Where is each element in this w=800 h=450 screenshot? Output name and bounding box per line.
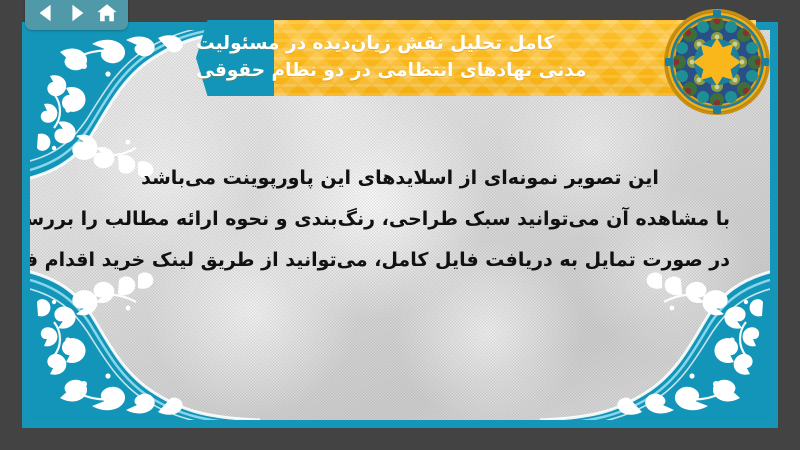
arabesque-ornament-bottom-left (30, 270, 260, 420)
arabesque-ornament-bottom-right (540, 270, 770, 420)
slide-viewer: این تصویر نمونه‌ای از اسلایدهای این پاور… (0, 0, 800, 450)
slide-body-text: این تصویر نمونه‌ای از اسلایدهای این پاور… (70, 158, 730, 281)
home-icon (96, 2, 118, 24)
body-line-1: این تصویر نمونه‌ای از اسلایدهای این پاور… (70, 158, 730, 199)
slide-title-banner: کامل تحلیل نقش زیان‌دیده در مسئولیت مدنی… (196, 20, 800, 96)
triangle-left-icon (35, 2, 57, 24)
page-title: کامل تحلیل نقش زیان‌دیده در مسئولیت مدنی… (196, 20, 792, 96)
navigation-bar[interactable] (25, 0, 128, 30)
previous-button[interactable] (34, 1, 58, 25)
home-button[interactable] (95, 1, 119, 25)
triangle-right-icon (66, 2, 88, 24)
next-button[interactable] (65, 1, 89, 25)
body-line-3: در صورت تمایل به دریافت فایل کامل، می‌تو… (70, 240, 730, 281)
body-line-2: با مشاهده آن می‌توانید سبک طراحی، رنگ‌بن… (70, 199, 730, 240)
title-line-1: کامل تحلیل نقش زیان‌دیده در مسئولیت (196, 31, 554, 58)
title-line-2: مدنی نهادهای انتظامی در دو نظام حقوقی (196, 58, 586, 85)
